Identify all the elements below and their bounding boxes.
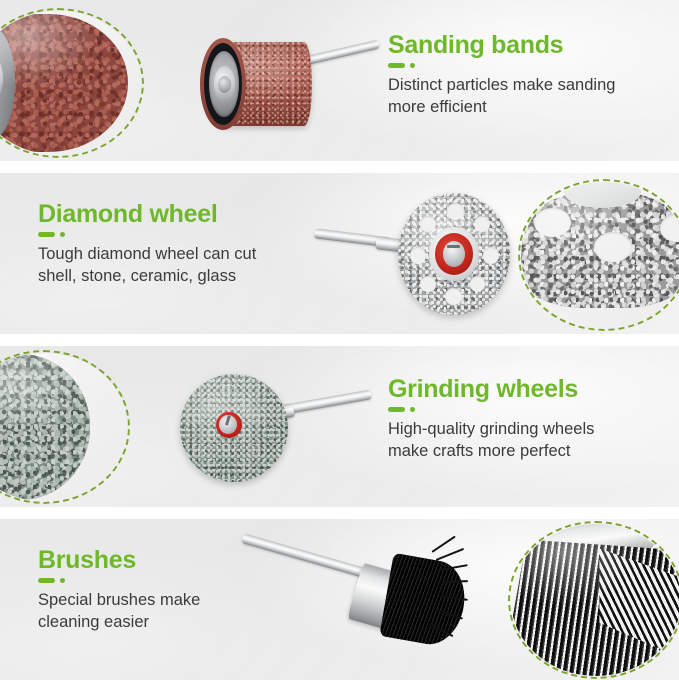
accent-dash-icon [38,578,55,583]
disc-vent-hole [447,203,464,220]
sanding-band-grit-closeup [0,8,144,158]
closeup-drum-shape [0,14,128,152]
section-description: Tough diamond wheel can cut shell, stone… [38,244,338,288]
grinding-wheels-text-block: Grinding wheels High-quality grinding wh… [388,376,660,463]
accent-dash-icon [388,407,405,412]
section-heading: Grinding wheels [388,376,660,402]
heading-accent-mark [388,63,658,68]
disc-vent-hole [410,247,426,264]
diamond-grit-closeup [518,179,679,331]
closeup-image [0,353,127,501]
disc-vent-hole [483,247,499,264]
disc-vent-hole [445,288,462,305]
section-sanding-bands: Sanding bands Distinct particles make sa… [0,0,679,161]
grinding-wheel-product [180,362,380,494]
section-brushes: Brushes Special brushes make cleaning ea… [0,519,679,680]
heading-accent-mark [388,407,660,412]
closeup-image [521,182,679,328]
section-heading: Diamond wheel [38,201,338,227]
sanding-grit-texture [0,14,128,152]
grinding-stone-texture [0,354,90,499]
accent-dot-icon [60,578,65,583]
sanding-bands-text-block: Sanding bands Distinct particles make sa… [388,32,658,119]
drum-screw [218,76,231,93]
section-description: High-quality grinding wheels make crafts… [388,419,660,463]
accent-dot-icon [410,407,415,412]
accent-dash-icon [38,232,55,237]
infographic-sheet: Sanding bands Distinct particles make sa… [0,0,679,680]
brush-bristle-tip [431,536,455,553]
closeup-image [0,11,141,155]
accent-dash-icon [388,63,405,68]
section-divider [0,507,679,519]
section-description: Distinct particles make sanding more eff… [388,75,658,119]
accent-dot-icon [410,63,415,68]
brushes-text-block: Brushes Special brushes make cleaning ea… [38,547,298,634]
grinding-disc [180,374,288,482]
brush-bristle-tip [436,548,465,561]
section-grinding-wheels: Grinding wheels High-quality grinding wh… [0,346,679,507]
sanding-band-drum-product [196,22,376,144]
section-heading: Sanding bands [388,32,658,58]
disc-vent-hole [470,276,486,292]
section-diamond-wheel: Diamond wheel Tough diamond wheel can cu… [0,173,679,334]
closeup-stone-shape [0,354,90,499]
closeup-image [511,524,679,676]
disc-hub-screw-slot [447,245,459,248]
diamond-cutting-wheel-product [310,185,520,325]
brush-bristles-closeup [508,521,679,679]
section-description: Special brushes make cleaning easier [38,590,298,634]
heading-accent-mark [38,578,298,583]
section-heading: Brushes [38,547,298,573]
disc-vent-hole [420,276,436,292]
section-divider [0,334,679,346]
disc-vent-hole [420,216,436,232]
mandrel-shaft [304,40,380,66]
diamond-disc [398,193,510,315]
heading-accent-mark [38,232,338,237]
diamond-wheel-text-block: Diamond wheel Tough diamond wheel can cu… [38,201,338,288]
disc-vent-hole [474,216,490,232]
accent-dot-icon [60,232,65,237]
section-divider [0,161,679,173]
grinding-stone-closeup [0,350,130,504]
